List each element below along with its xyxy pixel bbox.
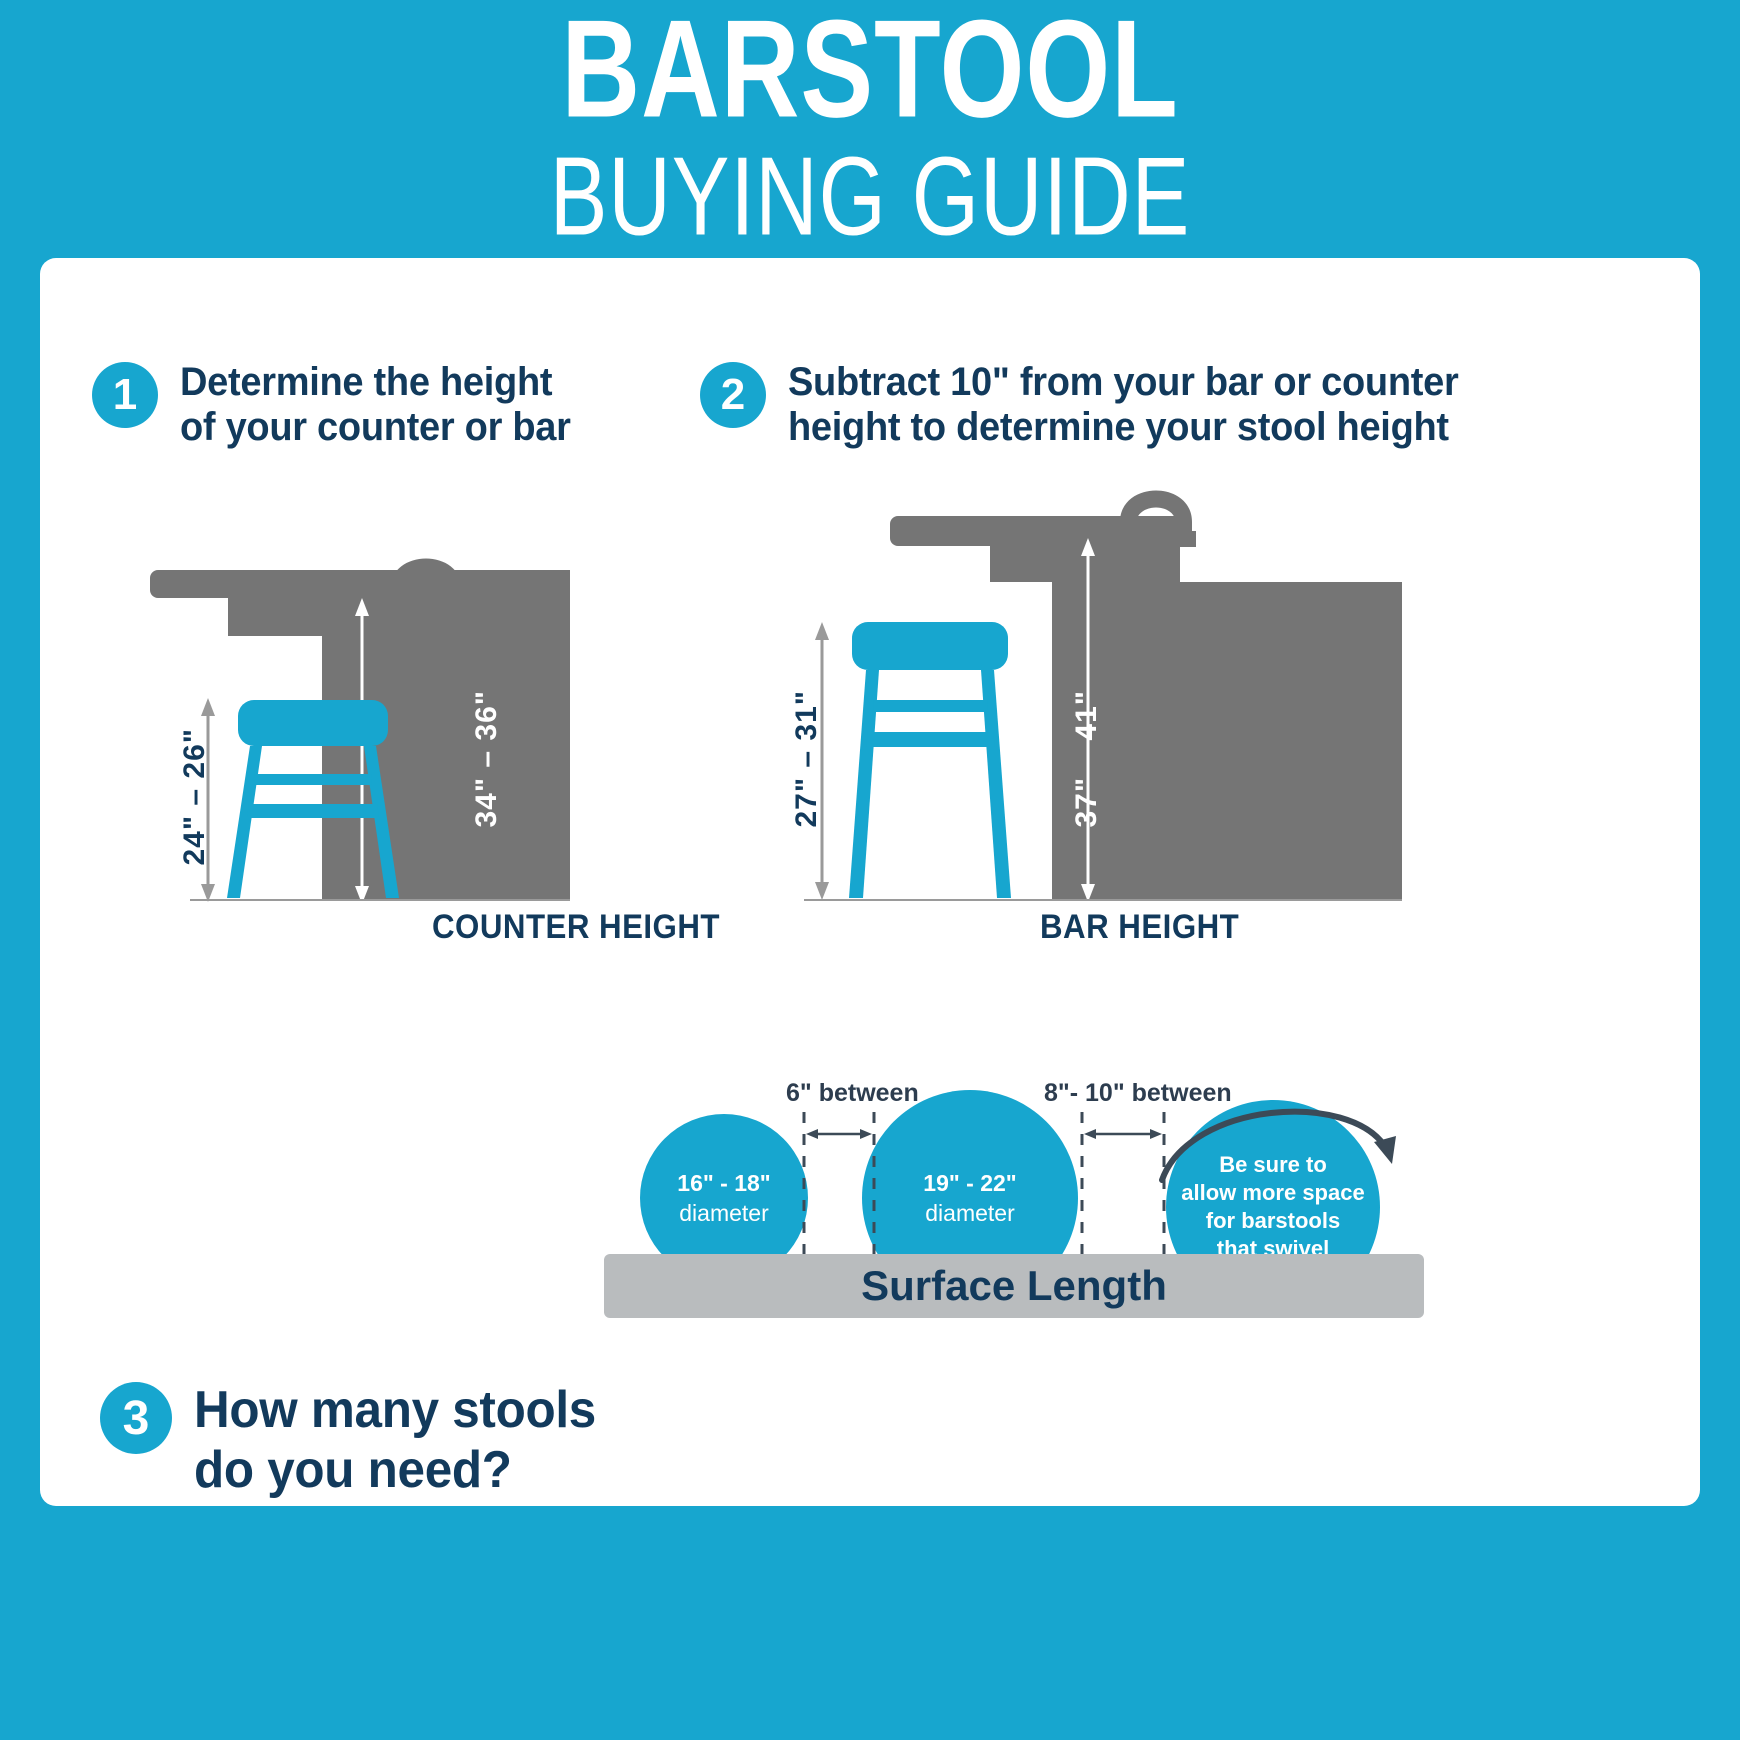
step-2-label: Subtract 10" from your bar or counter he… (788, 360, 1458, 450)
gap-1-label: 6" between (786, 1079, 919, 1108)
bar-stool-height-label: 27" – 31" (790, 690, 824, 828)
counter-height-caption: COUNTER HEIGHT (432, 908, 720, 947)
seat-unit-medium: diameter (925, 1198, 1014, 1228)
step-3-label: How many stools do you need? (194, 1380, 596, 1500)
bar-height-label: 37" – 41" (1070, 690, 1104, 828)
step-3-heading: 3 How many stools do you need? (100, 1380, 617, 1500)
page-title: BARSTOOL BUYING GUIDE (0, 0, 1740, 250)
surface-length-label: Surface Length (861, 1262, 1167, 1310)
step-2-number-badge: 2 (700, 362, 766, 428)
seat-unit-small: diameter (679, 1198, 768, 1228)
bar-stool-icon (849, 622, 1011, 898)
step-2-heading: 2 Subtract 10" from your bar or counter … (700, 360, 1494, 450)
step-1-label: Determine the height of your counter or … (180, 360, 571, 450)
title-line-2: BUYING GUIDE (70, 140, 1671, 253)
seat-size-medium: 19" - 22" (923, 1168, 1016, 1198)
bar-height-caption: BAR HEIGHT (1040, 908, 1239, 947)
counter-height-diagram (150, 460, 770, 960)
step-1-heading: 1 Determine the height of your counter o… (92, 360, 591, 450)
title-line-1: BARSTOOL (104, 0, 1635, 132)
counter-height-label: 34" – 36" (470, 690, 504, 828)
step-1-number-badge: 1 (92, 362, 158, 428)
infographic-page: BARSTOOL BUYING GUIDE 1 Determine the he… (0, 0, 1740, 1740)
step-3-number-badge: 3 (100, 1382, 172, 1454)
counter-stool-height-label: 24" – 26" (178, 728, 212, 866)
surface-length-bar: Surface Length (604, 1254, 1424, 1318)
swivel-arc-arrow (1150, 1072, 1410, 1192)
seat-size-small: 16" - 18" (677, 1168, 770, 1198)
